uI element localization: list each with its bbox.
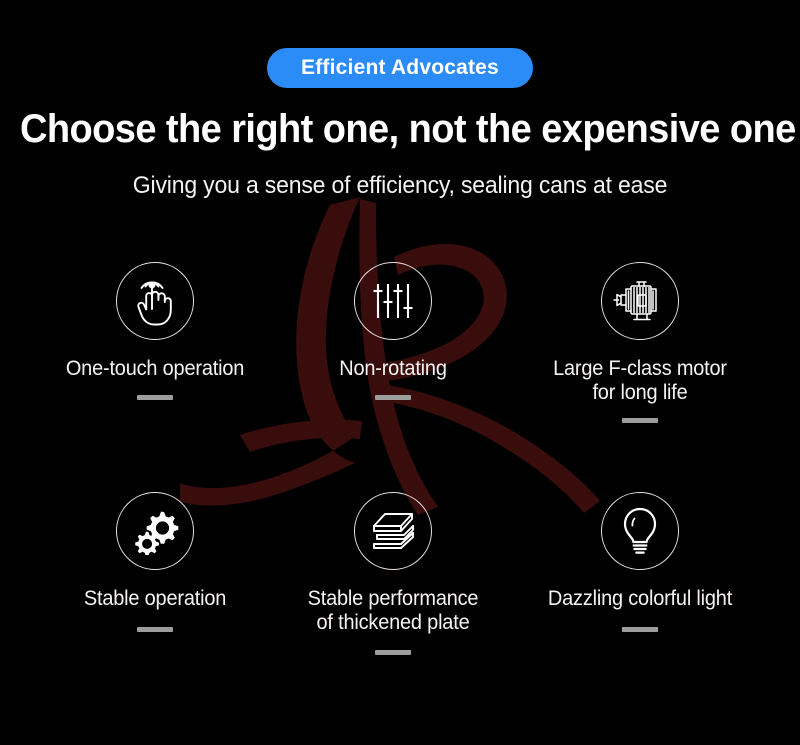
feature-dazzling-colorful-light[interactable]: Dazzling colorful light <box>520 492 760 632</box>
feature-label-line1: Large F-class motor <box>553 357 727 380</box>
feature-label-line1: One-touch operation <box>66 357 244 380</box>
feature-stable-operation[interactable]: Stable operation <box>35 492 275 632</box>
feature-label-line1: Dazzling colorful light <box>548 587 732 610</box>
feature-grid: One-touch operation <box>0 262 800 722</box>
feature-label: Large F-class motor for long life <box>526 357 754 404</box>
feature-row: Stable operation <box>0 492 800 722</box>
feature-stable-performance[interactable]: Stable performance of thickened plate <box>273 492 513 655</box>
feature-dash <box>375 395 411 400</box>
feature-label-line1: Non-rotating <box>339 357 447 380</box>
feature-label: Stable operation <box>41 587 269 611</box>
page-title: Choose the right one, not the expensive … <box>20 107 780 152</box>
feature-label: Non-rotating <box>279 357 507 381</box>
feature-label-line1: Stable operation <box>84 587 226 610</box>
feature-dash <box>622 627 658 632</box>
feature-dash <box>137 627 173 632</box>
feature-non-rotating[interactable]: Non-rotating <box>273 262 513 400</box>
feature-label: One-touch operation <box>41 357 269 381</box>
feature-label: Stable performance of thickened plate <box>279 587 507 634</box>
feature-one-touch-operation[interactable]: One-touch operation <box>35 262 275 400</box>
page-subtitle: Giving you a sense of efficiency, sealin… <box>16 172 784 200</box>
light-bulb-icon <box>601 492 679 570</box>
stacked-plates-icon <box>354 492 432 570</box>
feature-label: Dazzling colorful light <box>526 587 754 611</box>
feature-dash <box>375 650 411 655</box>
feature-label-line1: Stable performance <box>308 587 479 610</box>
sliders-icon <box>354 262 432 340</box>
feature-dash <box>137 395 173 400</box>
electric-motor-icon <box>601 262 679 340</box>
feature-large-f-class-motor[interactable]: Large F-class motor for long life <box>520 262 760 423</box>
feature-dash <box>622 418 658 423</box>
gears-icon <box>116 492 194 570</box>
feature-label-line2: for long life <box>526 381 754 405</box>
promo-banner: Efficient Advocates Choose the right one… <box>0 0 800 745</box>
feature-row: One-touch operation <box>0 262 800 492</box>
touch-hand-icon <box>116 262 194 340</box>
badge-efficient-advocates[interactable]: Efficient Advocates <box>267 48 533 88</box>
feature-label-line2: of thickened plate <box>279 611 507 635</box>
badge-row: Efficient Advocates <box>0 48 800 88</box>
